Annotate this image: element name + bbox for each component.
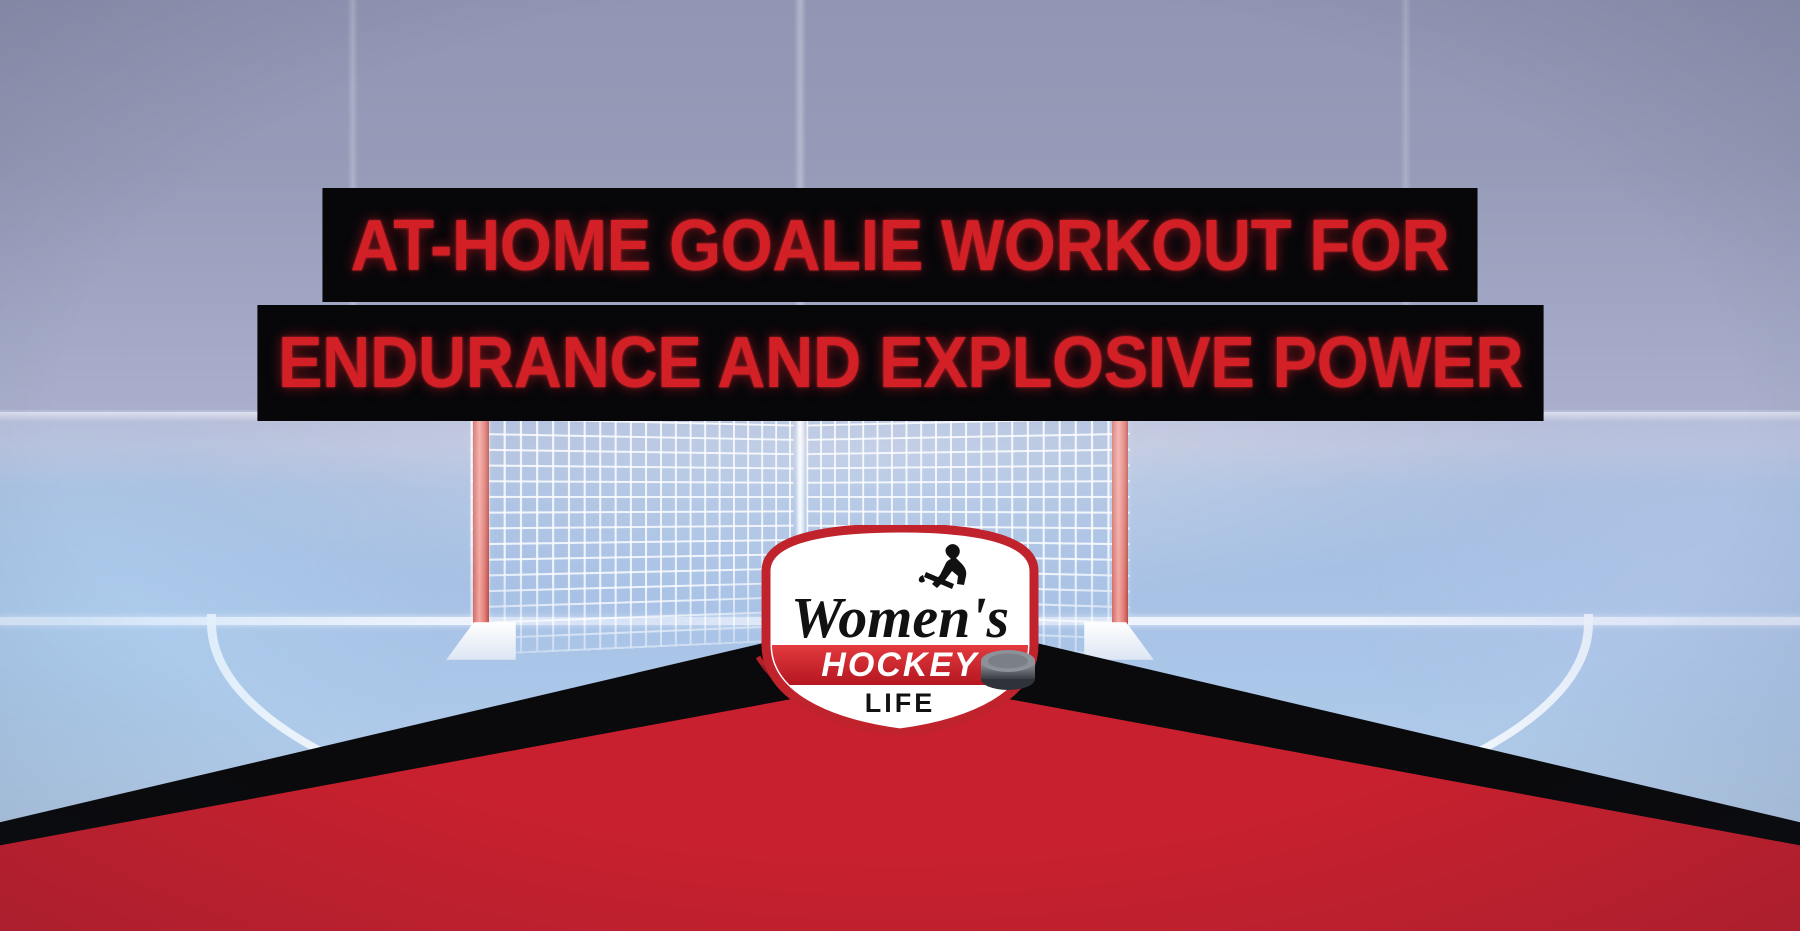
- logo-text-hockey: HOCKEY: [821, 646, 980, 684]
- logo-script-womens: Women's: [791, 585, 1009, 650]
- title-line-2: ENDURANCE AND EXPLOSIVE POWER: [257, 305, 1543, 421]
- hockey-puck-icon: [981, 650, 1035, 690]
- womens-hockey-life-logo[interactable]: Women's HOCKEY LIFE: [740, 525, 1060, 735]
- title-block: AT-HOME GOALIE WORKOUT FOR ENDURANCE AND…: [0, 188, 1800, 421]
- header-graphic: AT-HOME GOALIE WORKOUT FOR ENDURANCE AND…: [0, 0, 1800, 931]
- title-line-1: AT-HOME GOALIE WORKOUT FOR: [323, 188, 1478, 302]
- logo-text-life: LIFE: [865, 688, 936, 718]
